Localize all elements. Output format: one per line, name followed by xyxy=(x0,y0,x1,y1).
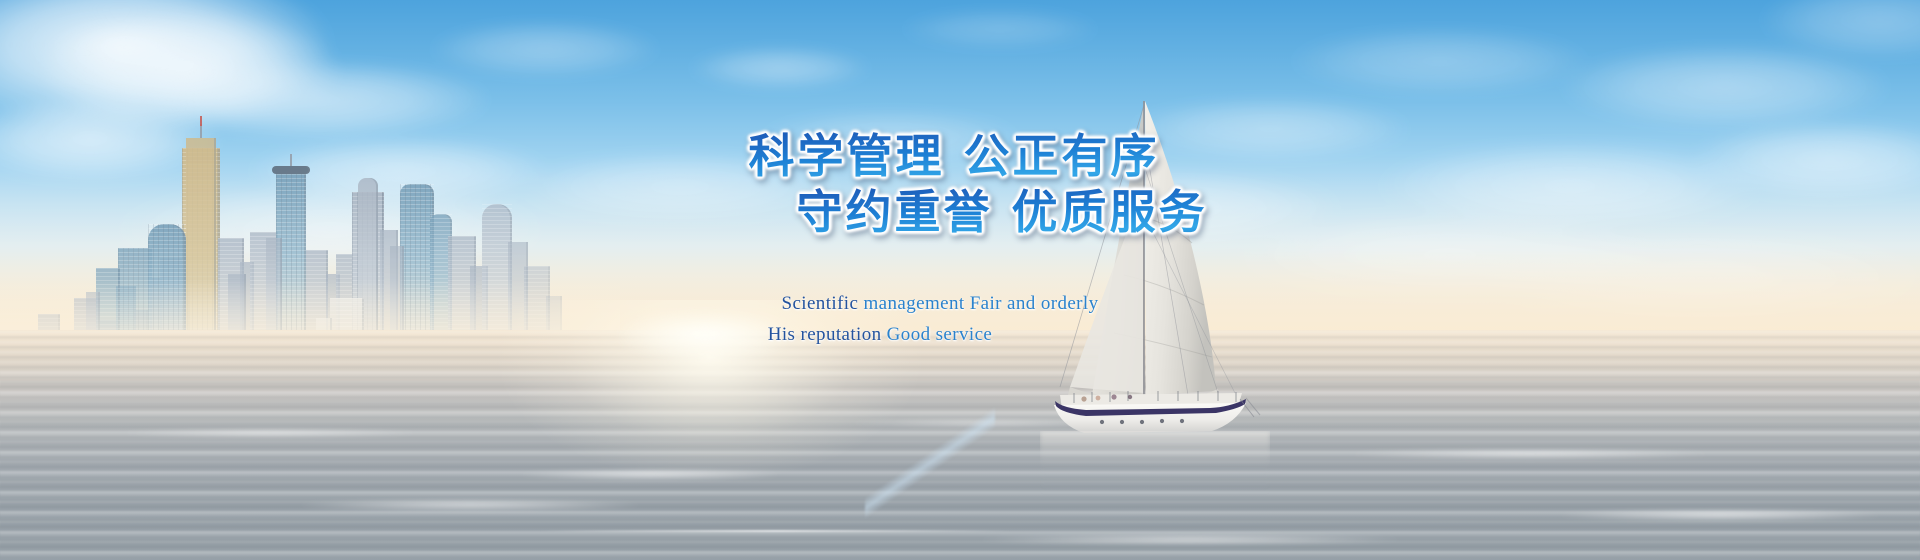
water-highlight xyxy=(300,500,640,510)
water-highlight xyxy=(1350,450,1710,458)
sun-glare-core xyxy=(620,312,790,358)
boat-reflection xyxy=(1040,431,1270,501)
sailboat xyxy=(1040,95,1270,435)
water-highlight xyxy=(980,535,1400,544)
flare-streak xyxy=(540,530,1010,532)
sailboat-svg xyxy=(1040,95,1270,435)
lens-flare xyxy=(865,400,995,530)
water-highlight xyxy=(120,430,420,436)
water-highlight xyxy=(520,470,780,479)
water-highlight xyxy=(1560,510,1880,520)
hero-banner: 科学管理 公正有序 守约重誉 优质服务 Scientific managemen… xyxy=(0,0,1920,560)
